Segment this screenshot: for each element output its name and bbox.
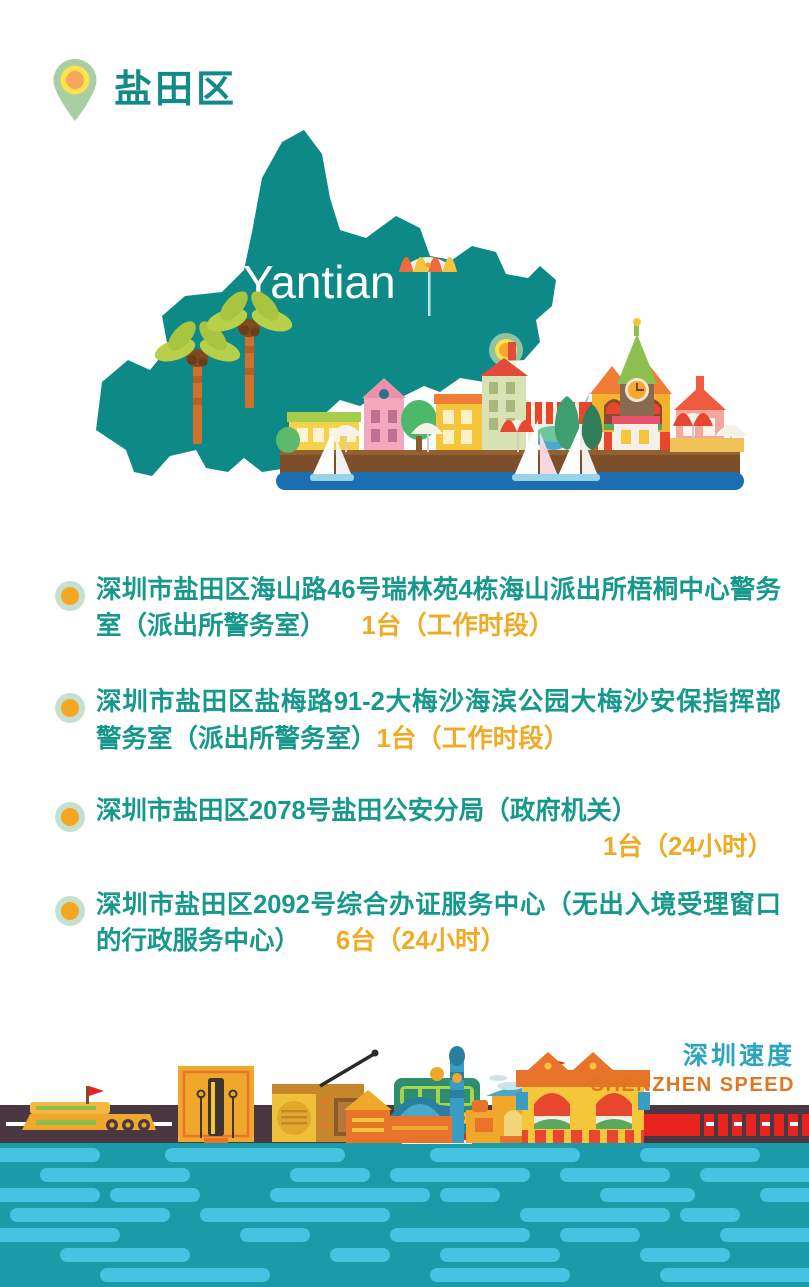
building bbox=[482, 374, 526, 450]
footer-illustration: 深圳速度 SHENZHEN SPEED bbox=[0, 1042, 809, 1287]
list-item[interactable]: 深圳市盐田区盐梅路91-2大梅沙海滨公园大梅沙安保指挥部警务室（派出所警务室）1… bbox=[0, 684, 809, 756]
building bbox=[614, 422, 658, 450]
police-kiosk-list: 深圳市盐田区海山路46号瑞林苑4栋海山派出所梧桐中心警务室（派出所警务室）1台（… bbox=[0, 572, 809, 986]
list-item[interactable]: 深圳市盐田区2092号综合办证服务中心（无出入境受理窗口的行政服务中心）6台（2… bbox=[0, 887, 809, 959]
list-item-count: 6台（24小时） bbox=[336, 927, 506, 955]
bullet-dot-icon bbox=[55, 896, 85, 926]
list-item-text: 深圳市盐田区盐梅路91-2大梅沙海滨公园大梅沙安保指挥部警务室（派出所警务室）1… bbox=[96, 684, 781, 756]
list-item-address: 深圳市盐田区2078号盐田公安分局（政府机关） bbox=[96, 793, 781, 829]
infographic-page: 盐田区 Yantian bbox=[0, 0, 809, 1287]
footer-landmarks-svg bbox=[0, 1042, 809, 1287]
building bbox=[436, 402, 482, 450]
map-svg: Yantian bbox=[0, 120, 809, 520]
observatory-icon bbox=[344, 1046, 523, 1143]
station-building-icon bbox=[516, 1052, 650, 1143]
page-header: 盐田区 bbox=[52, 58, 237, 122]
bullet-dot-icon bbox=[55, 693, 85, 723]
page-title: 盐田区 bbox=[114, 71, 237, 109]
list-item[interactable]: 深圳市盐田区2078号盐田公安分局（政府机关） 1台（24小时） bbox=[0, 793, 809, 865]
map-illustration: Yantian bbox=[0, 120, 809, 520]
red-bar-ticks bbox=[700, 1114, 802, 1136]
list-item-count: 1台（工作时段） bbox=[377, 725, 570, 753]
list-item[interactable]: 深圳市盐田区海山路46号瑞林苑4栋海山派出所梧桐中心警务室（派出所警务室）1台（… bbox=[0, 572, 809, 644]
building bbox=[364, 396, 404, 450]
list-item-text: 深圳市盐田区海山路46号瑞林苑4栋海山派出所梧桐中心警务室（派出所警务室）1台（… bbox=[96, 572, 781, 644]
bullet-dot-icon bbox=[55, 581, 85, 611]
list-item-text: 深圳市盐田区2092号综合办证服务中心（无出入境受理窗口的行政服务中心）6台（2… bbox=[96, 887, 781, 959]
map-pin-icon bbox=[52, 58, 98, 122]
observatory-icon bbox=[108, 1120, 166, 1143]
list-item-count: 1台（24小时） bbox=[96, 829, 781, 865]
list-item-count: 1台（工作时段） bbox=[362, 612, 555, 640]
bullet-dot-icon bbox=[55, 802, 85, 832]
